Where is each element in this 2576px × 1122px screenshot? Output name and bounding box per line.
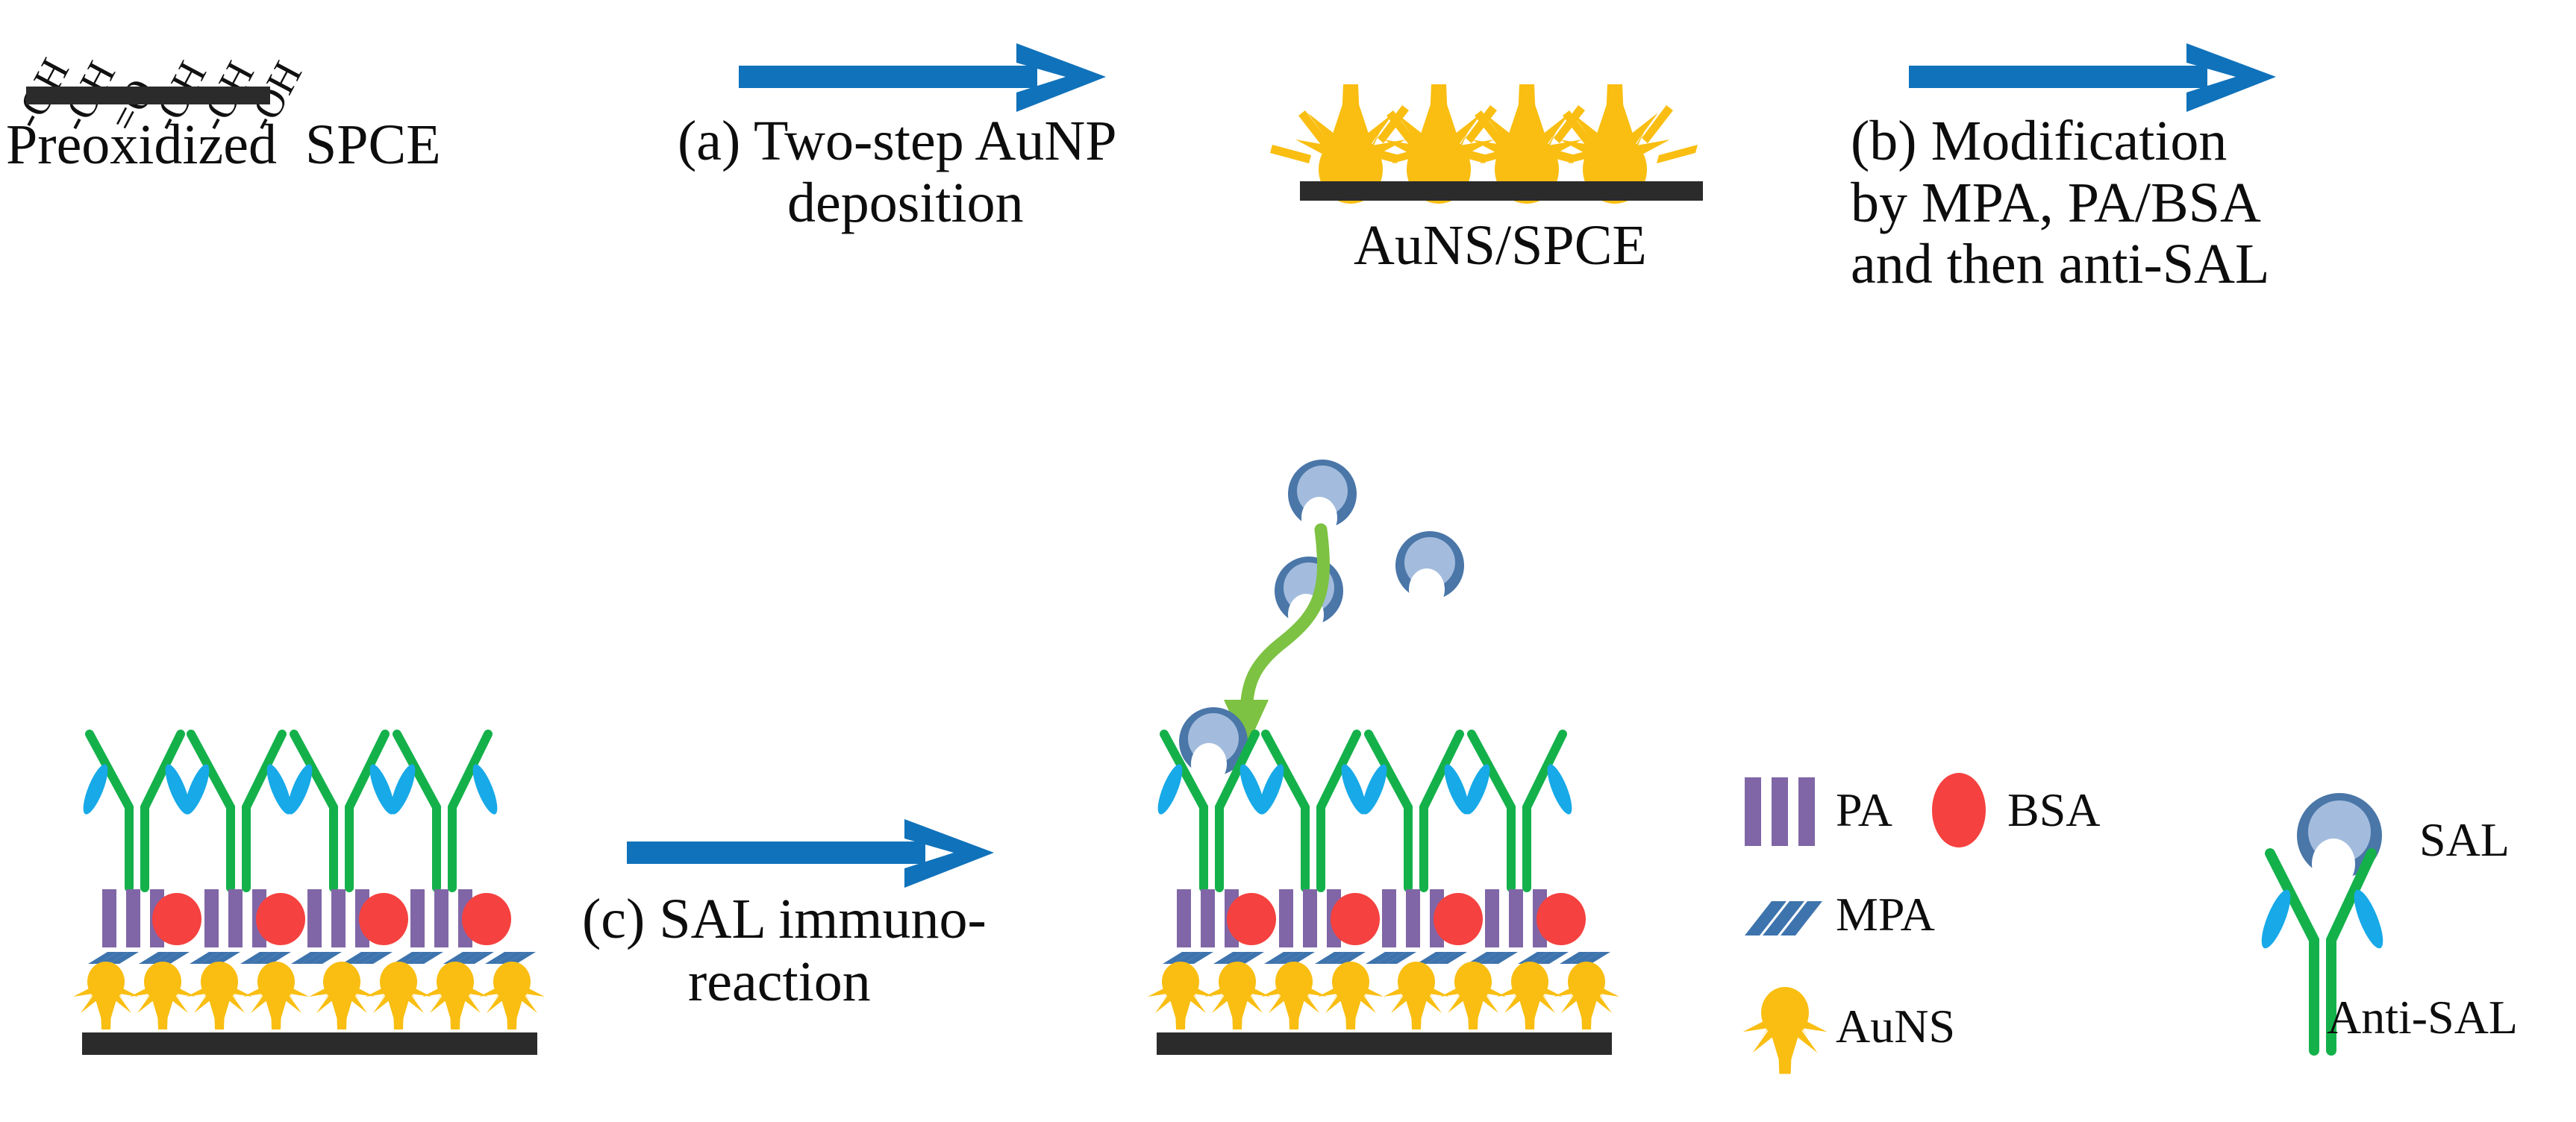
legend-row-pa-bsa: PA BSA — [1739, 761, 2216, 858]
antibody-1 — [78, 734, 195, 888]
electrode-bar-preoxidized — [26, 87, 270, 104]
antibody-3 — [283, 734, 399, 888]
bsa-4 — [1536, 893, 1586, 945]
auns-row-top — [1269, 4, 1686, 242]
legend-left: PA BSA MPA — [1739, 761, 2216, 1074]
antibody-4 — [1460, 734, 1577, 888]
bsa-1 — [152, 893, 201, 945]
pa-icon — [1739, 770, 1828, 852]
bsa-4 — [462, 893, 511, 945]
legend-label-pa: PA — [1836, 782, 1892, 839]
free-sal-3 — [1395, 531, 1464, 610]
preoxidized-spce-stage: -OH -OH =O -OH -OH -OH Preoxidized SPCE — [0, 0, 657, 313]
legend-row-mpa: MPA — [1739, 882, 2216, 971]
bsa-2 — [256, 893, 305, 945]
legend-label-bsa: BSA — [2007, 782, 2101, 839]
legend-label-sal: SAL — [2419, 812, 2510, 868]
step-b-line3: and then anti-SAL — [1851, 231, 2269, 298]
antibody-2 — [180, 734, 296, 888]
bsa-2 — [1331, 893, 1380, 945]
sal-icon — [2297, 793, 2382, 889]
immunoreacted-electrode-stage — [1142, 701, 1664, 1089]
bsa-icon — [1925, 768, 1992, 852]
step-b: (b) Modification by MPA, PA/BSA and then… — [1851, 30, 2576, 343]
antibody-4 — [386, 734, 502, 888]
step-a-arrow-icon — [739, 37, 1127, 119]
legend-label-auns: AuNS — [1836, 998, 1955, 1055]
step-b-line2: by MPA, PA/BSA — [1851, 170, 2261, 237]
step-c-arrow-icon — [627, 813, 1015, 895]
nanostar-layer — [1148, 962, 1619, 1029]
figure-canvas: -OH -OH =O -OH -OH -OH Preoxidized SPCE … — [0, 0, 2576, 1122]
step-b-arrow-icon — [1909, 37, 2297, 119]
electrode-bar-auns — [1300, 181, 1703, 201]
mpa-layer — [1163, 952, 1610, 964]
nanostar-layer — [73, 962, 545, 1029]
bsa-3 — [1434, 893, 1483, 945]
step-b-line1: (b) Modification — [1851, 108, 2227, 175]
step-a-line2: deposition — [787, 170, 1024, 237]
preoxidized-spce-caption: Preoxidized SPCE — [6, 112, 441, 179]
antibody-2 — [1254, 734, 1371, 888]
electrode-bar-immunoreacted — [1157, 1032, 1612, 1055]
legend-row-auns: AuNS — [1739, 971, 2216, 1076]
step-a: (a) Two-step AuNP deposition — [657, 30, 1254, 283]
step-c-line1: (c) SAL immuno- — [582, 886, 987, 953]
bsa-1 — [1227, 893, 1276, 945]
mpa-icon — [1740, 892, 1830, 944]
auns-icon — [1739, 971, 1836, 1068]
auns-spce-stage: AuNS/SPCE — [1261, 0, 1769, 321]
legend-label-anti-sal: Anti-SAL — [2327, 989, 2518, 1046]
antibody-3 — [1357, 734, 1474, 888]
legend-label-mpa: MPA — [1836, 886, 1935, 943]
step-a-line1: (a) Two-step AuNP — [678, 108, 1117, 175]
legend-right: SAL Anti-SAL — [2224, 753, 2575, 1082]
step-c-line2: reaction — [688, 949, 871, 1016]
bsa-3 — [359, 893, 408, 945]
modified-electrode-stage — [67, 701, 590, 1089]
step-c: (c) SAL immuno- reaction — [552, 806, 1090, 1029]
electrode-bar-modified — [82, 1032, 537, 1055]
mpa-layer — [88, 952, 536, 964]
auns-spce-caption: AuNS/SPCE — [1354, 213, 1647, 280]
